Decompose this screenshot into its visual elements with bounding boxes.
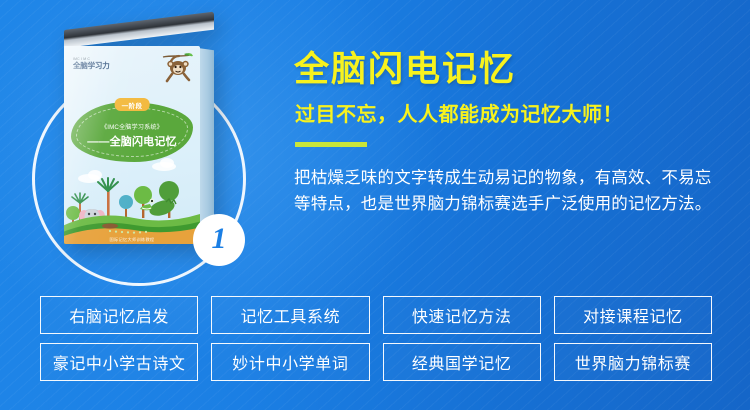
feature-tag-label: 记忆工具系统 (241, 303, 341, 327)
page-title: 全脑闪电记忆 (294, 52, 516, 89)
cover-series-label: 《IMC全脑学习系统》 (71, 122, 193, 131)
cloud-shape (160, 158, 174, 168)
cover-title-plate: 一阶段 《IMC全脑学习系统》 ——全脑闪电记忆 (71, 102, 193, 162)
feature-tag-label: 世界脑力锦标赛 (575, 350, 691, 374)
body-description: 把枯燥乏味的文字转成生动易记的物象，有高效、不易忘等特点，也是世界脑力锦标赛选手… (294, 166, 718, 217)
brand-logo-chinese: 全脑学习力 (73, 62, 110, 70)
feature-tag-label: 右脑记忆启发 (69, 303, 169, 327)
promo-banner: IMC I M C 全脑学习力 (0, 0, 750, 410)
stage-number-badge: 1 (193, 214, 245, 266)
feature-tag-label: 对接课程记忆 (583, 303, 683, 327)
page-subtitle: 过目不忘，人人都能成为记忆大师！ (295, 104, 623, 126)
feature-tag[interactable]: 右脑记忆启发 (40, 296, 198, 334)
feature-tag[interactable]: 经典国学记忆 (383, 343, 541, 381)
feature-tag[interactable]: 豪记中小学古诗文 (40, 343, 198, 381)
cover-title-label: ——全脑闪电记忆 (71, 133, 193, 149)
feature-tag-label: 豪记中小学古诗文 (53, 350, 186, 374)
feature-tag[interactable]: 对接课程记忆 (554, 296, 712, 334)
imc-brand-logo: IMC I M C 全脑学习力 (73, 58, 110, 70)
feature-tag-grid: 右脑记忆启发 记忆工具系统 快速记忆方法 对接课程记忆 豪记中小学古诗文 妙计中… (40, 296, 712, 381)
tree-icon (119, 195, 133, 218)
product-artwork: IMC I M C 全脑学习力 (40, 16, 280, 288)
cover-caption: 国际记忆大师训练教程 (64, 237, 200, 243)
feature-tag-label: 快速记忆方法 (412, 303, 512, 327)
feature-tag[interactable]: 妙计中小学单词 (211, 343, 369, 381)
box-top-edge (64, 12, 214, 48)
tree-icon (134, 186, 152, 218)
cover-scene-illustration: 国际记忆大师训练教程 (64, 168, 200, 244)
feature-tag-label: 经典国学记忆 (412, 350, 512, 374)
feature-tag[interactable]: 世界脑力锦标赛 (554, 343, 712, 381)
title-underline-rule (295, 142, 367, 147)
monkey-mascot-icon (160, 52, 194, 84)
product-box: IMC I M C 全脑学习力 (64, 30, 214, 246)
box-front-cover: IMC I M C 全脑学习力 (64, 46, 200, 244)
feature-tag-label: 妙计中小学单词 (232, 350, 348, 374)
feature-tag[interactable]: 快速记忆方法 (383, 296, 541, 334)
stage-number-label: 1 (212, 224, 227, 254)
cover-stage-pill: 一阶段 (115, 98, 150, 111)
feature-tag[interactable]: 记忆工具系统 (211, 296, 369, 334)
